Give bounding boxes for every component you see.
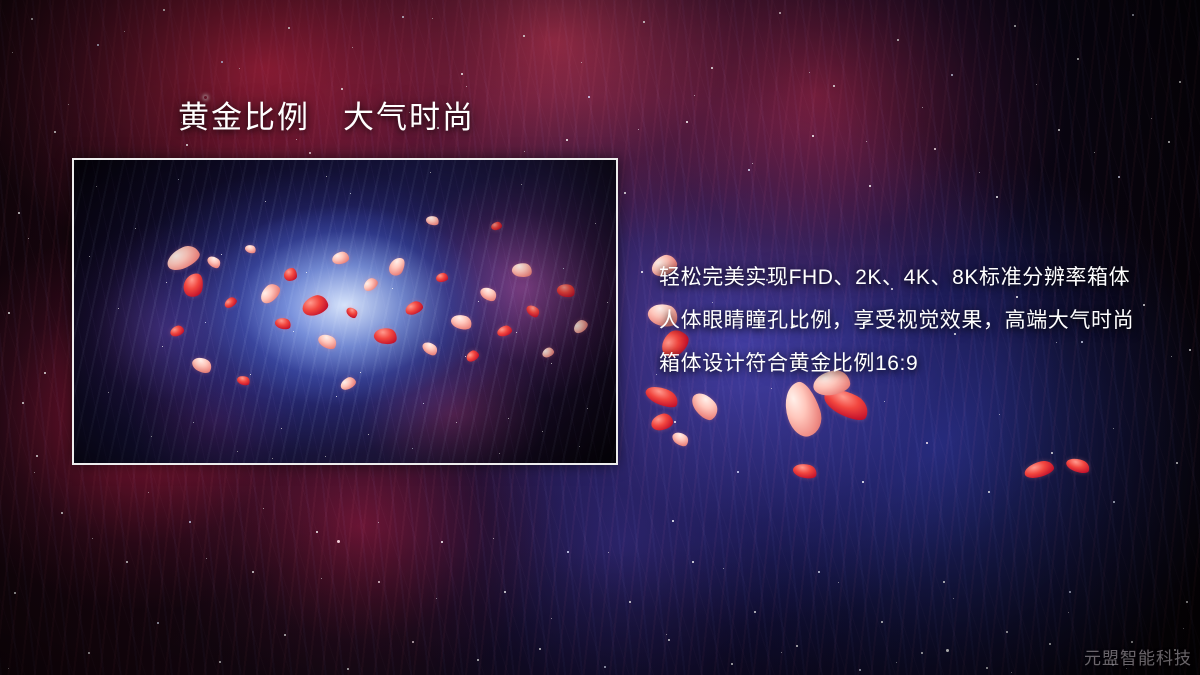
rose-petal [1023, 459, 1056, 481]
rose-petal [778, 378, 826, 441]
page-title: 黄金比例 大气时尚 [178, 98, 475, 138]
body-line-3: 箱体设计符合黄金比例16:9 [659, 342, 1134, 385]
body-copy: 轻松完美实现FHD、2K、4K、8K标准分辨率箱体 人体眼睛瞳孔比例，享受视觉效… [659, 256, 1134, 385]
rose-petal [792, 461, 819, 480]
starfield-layer-3 [0, 0, 1, 1]
presentation-slide: 黄金比例 大气时尚 轻松完美实现FHD、2K、4K、8K标准分辨率箱体 人体眼睛… [0, 0, 1200, 675]
rose-petal [670, 429, 691, 449]
rose-petal [820, 382, 873, 425]
rose-petal [650, 412, 675, 432]
framed-vignette [74, 160, 616, 463]
watermark: 元盟智能科技 [1084, 644, 1192, 669]
body-line-2: 人体眼睛瞳孔比例，享受视觉效果，高端大气时尚 [659, 299, 1134, 342]
rose-petal [688, 388, 722, 424]
rose-petal [643, 382, 681, 411]
rose-petal [1065, 455, 1092, 475]
body-line-1: 轻松完美实现FHD、2K、4K、8K标准分辨率箱体 [659, 256, 1134, 299]
framed-image [72, 158, 618, 465]
